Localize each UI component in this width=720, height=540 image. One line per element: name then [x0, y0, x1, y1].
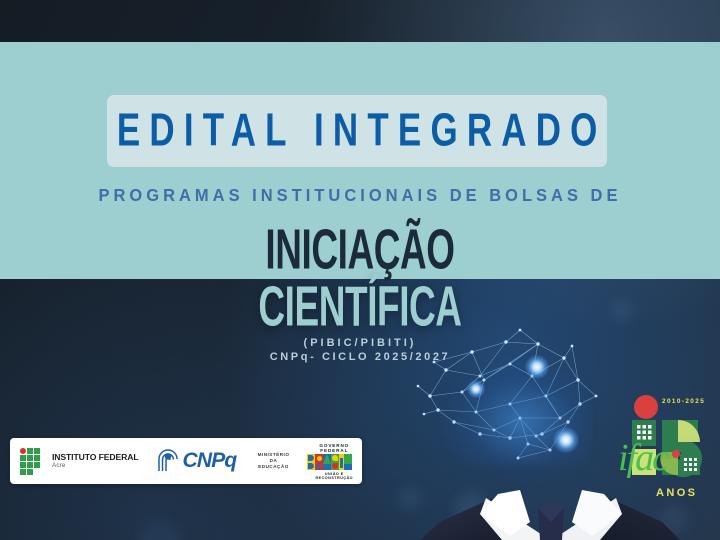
- heading-iniciacao: INICIAÇÃO: [50, 218, 669, 283]
- anniversary-anos-label: ANOS: [656, 487, 697, 499]
- instituto-federal-icon: [20, 448, 46, 474]
- cnpq-wordmark: CNPq: [182, 449, 236, 473]
- partner-logos-bar: INSTITUTO FEDERAL Acre CNPq MINISTÉRIO D…: [10, 438, 362, 484]
- brasil-letter-r: [315, 454, 323, 470]
- logo-instituto-federal: INSTITUTO FEDERAL Acre: [10, 438, 138, 484]
- brasil-letter-l: [344, 454, 352, 470]
- brasil-wordmark: [307, 454, 362, 470]
- ministerio-line-2: EDUCAÇÃO: [254, 464, 292, 470]
- governo-federal-label: GOVERNO FEDERAL: [307, 443, 362, 453]
- brasil-letter-s: [331, 454, 339, 470]
- edital-title-box: EDITAL INTEGRADO: [107, 95, 607, 167]
- program-acronyms: (PIBIC/PIBITI): [0, 337, 720, 349]
- brasil-letter-a: [323, 454, 331, 470]
- page-title: EDITAL INTEGRADO: [108, 105, 607, 157]
- cycle-period: CNPq- CICLO 2025/2027: [0, 351, 720, 363]
- logo-ministerio-educacao: MINISTÉRIO DA EDUCAÇÃO: [254, 452, 292, 471]
- heading-cientifica: CIENTÍFICA: [50, 275, 669, 340]
- ministerio-line-1: MINISTÉRIO DA: [254, 452, 292, 464]
- ifac-anniversary-logo: 2010-2025 ifac ANOS: [620, 392, 715, 500]
- logo-governo-federal: GOVERNO FEDERAL: [307, 443, 362, 480]
- ifac-script-wordmark: ifac: [618, 436, 667, 480]
- programs-subtitle: PROGRAMAS INSTITUCIONAIS DE BOLSAS DE: [0, 187, 720, 207]
- governo-federal-tagline: UNIÃO E RECONSTRUÇÃO: [307, 472, 362, 480]
- brasil-letter-b: [307, 454, 315, 470]
- instituto-federal-title: INSTITUTO FEDERAL: [52, 453, 138, 462]
- poster-canvas: EDITAL INTEGRADO PROGRAMAS INSTITUCIONAI…: [0, 0, 720, 540]
- logo-cnpq: CNPq: [156, 448, 236, 474]
- instituto-federal-subtitle: Acre: [52, 463, 138, 469]
- cnpq-icon: [156, 448, 180, 474]
